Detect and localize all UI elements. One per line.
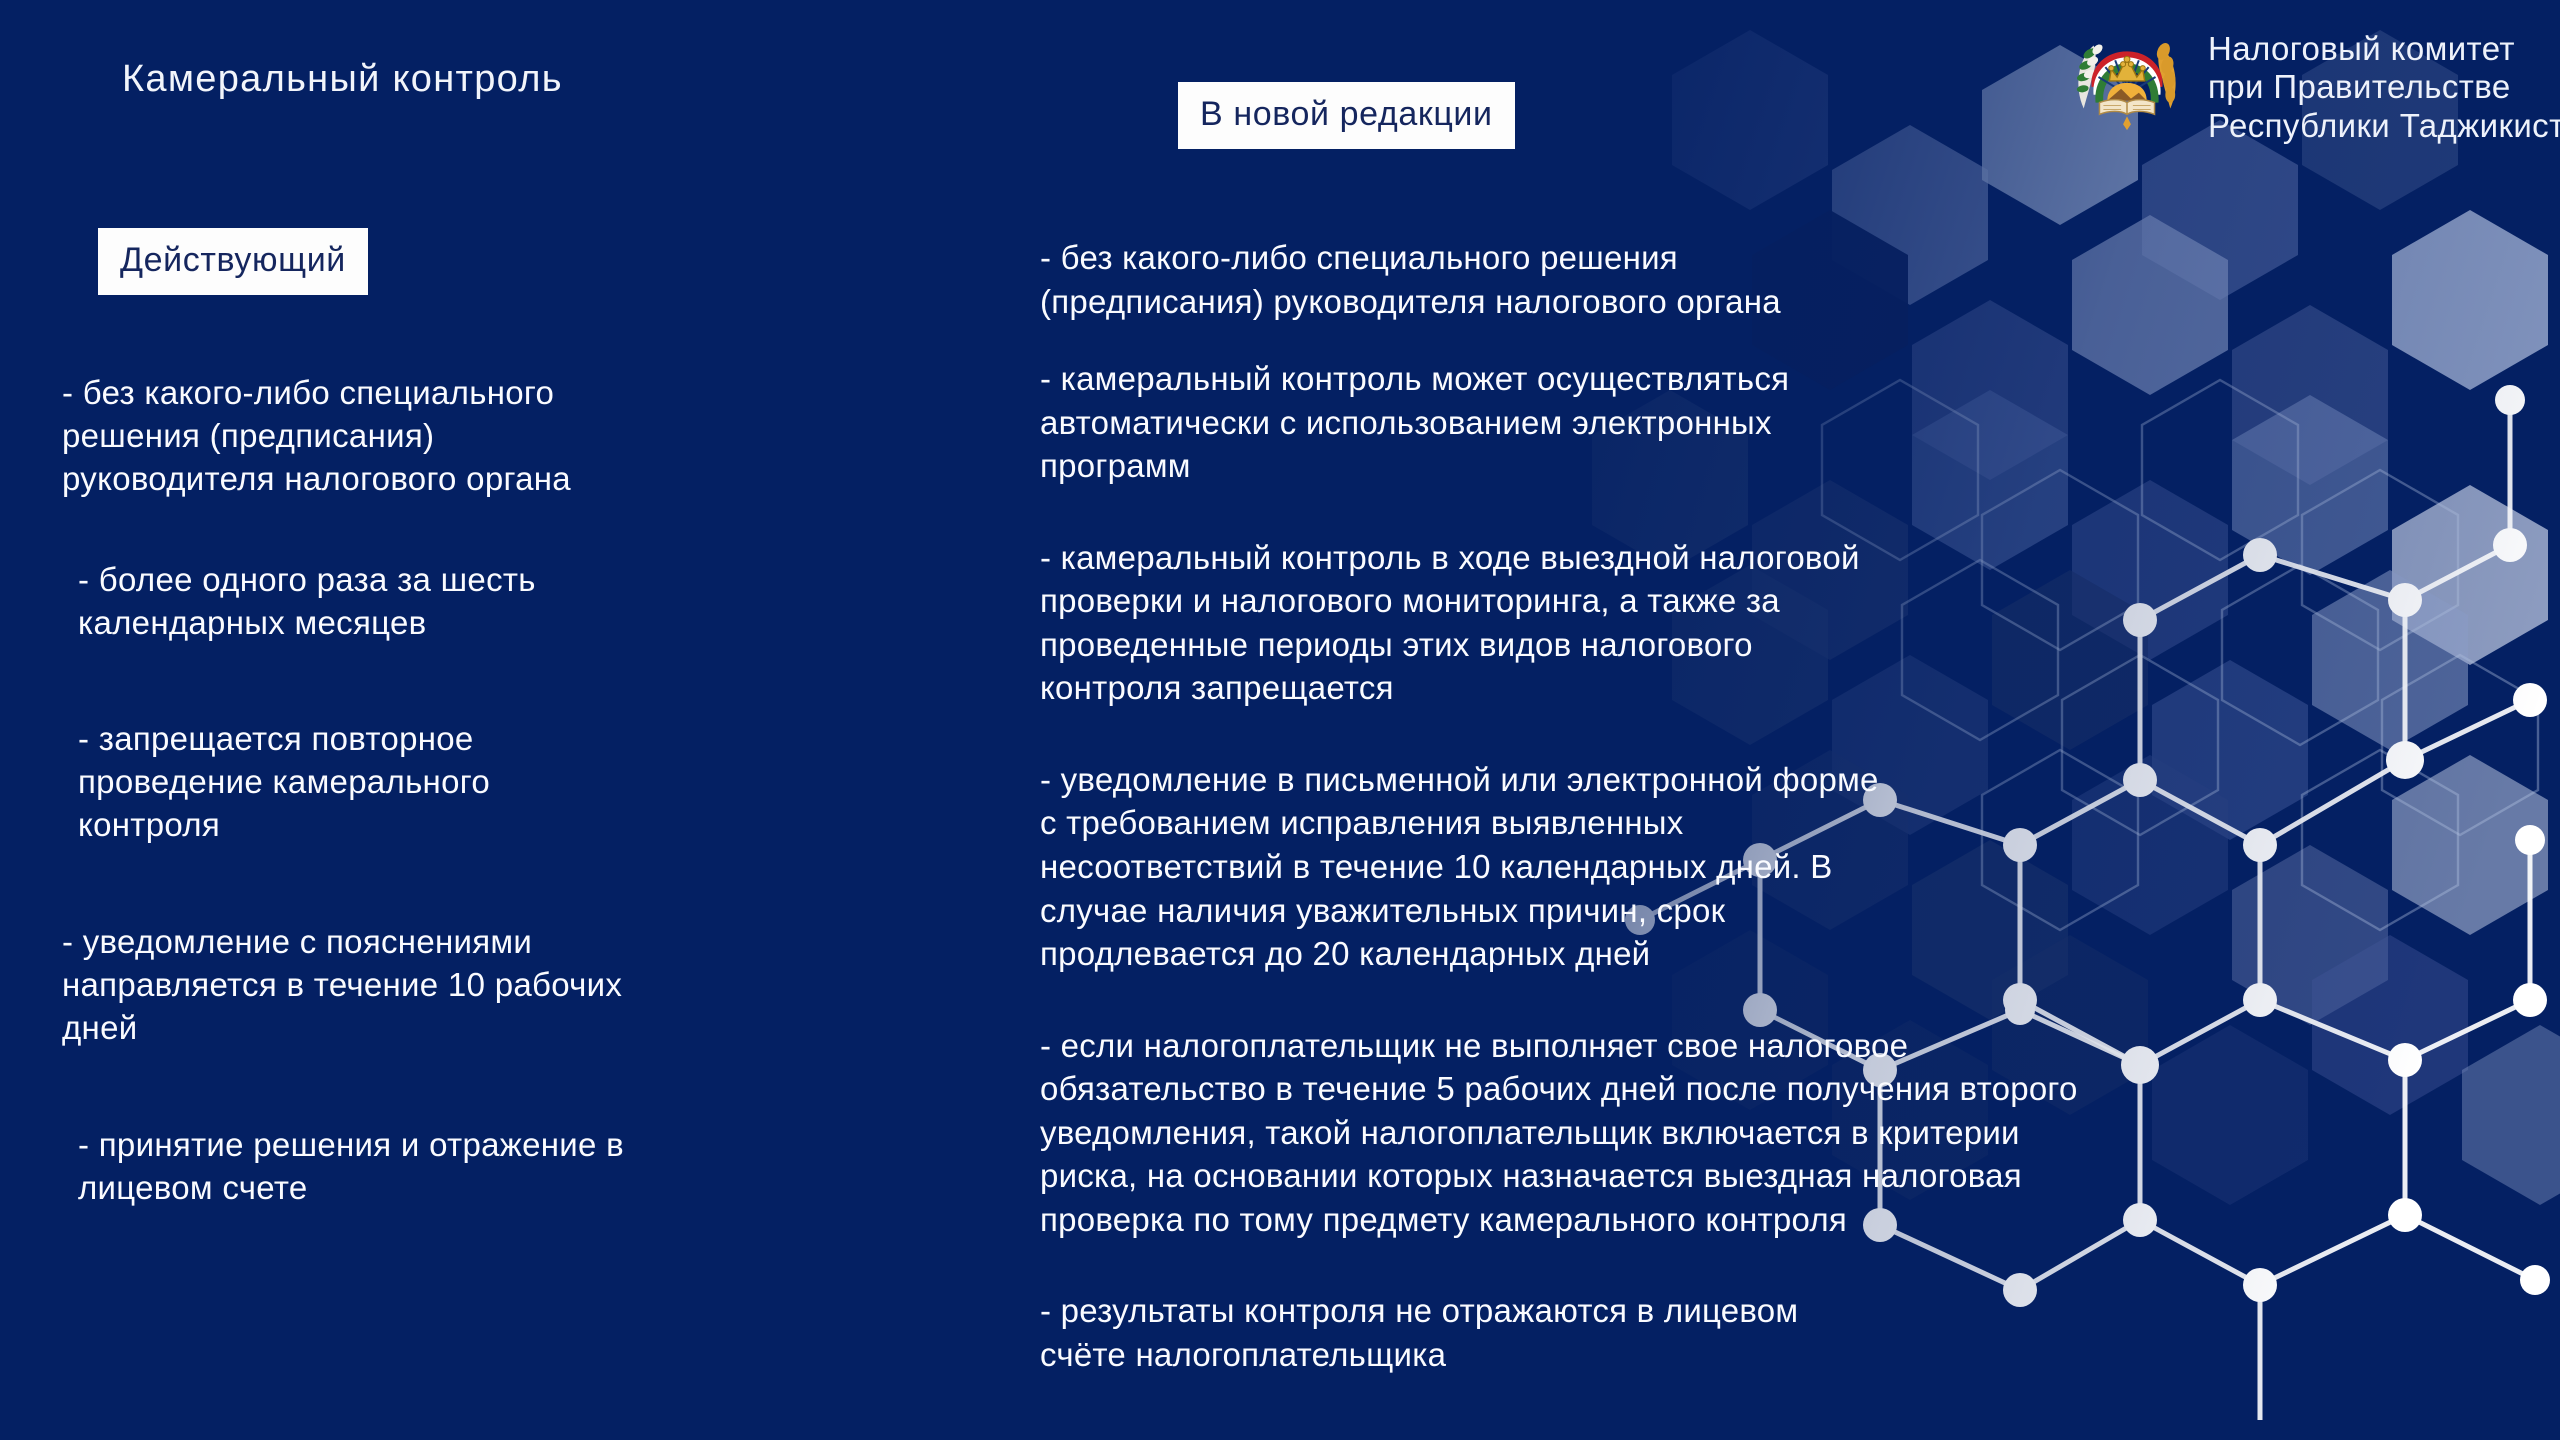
brand-line-2: при Правительстве <box>2208 68 2560 106</box>
brand-line-3: Республики Таджикистан <box>2208 107 2560 145</box>
current-version-column: - без какого-либо специального решения (… <box>62 372 862 1210</box>
tajikistan-state-emblem <box>2068 18 2186 136</box>
right-paragraph: - камеральный контроль может осуществлят… <box>1040 357 2200 488</box>
slide-root: Налоговый комитет при Правительстве Респ… <box>0 0 2560 1440</box>
left-paragraph: - принятие решения и отражение в лицевом… <box>62 1124 862 1210</box>
badge-new-version: В новой редакции <box>1178 82 1515 149</box>
left-paragraph: - без какого-либо специального решения (… <box>62 372 862 501</box>
page-title: Камеральный контроль <box>122 58 563 101</box>
brand-title: Налоговый комитет при Правительстве Респ… <box>2208 18 2560 145</box>
right-paragraph: - результаты контроля не отражаются в ли… <box>1040 1289 2200 1376</box>
right-paragraph: - если налогоплательщик не выполняет сво… <box>1040 1024 2200 1242</box>
left-paragraph: - уведомление с пояснениями направляется… <box>62 921 862 1050</box>
left-paragraph: - запрещается повторное проведение камер… <box>62 718 862 847</box>
brand-header: Налоговый комитет при Правительстве Респ… <box>2068 18 2560 145</box>
new-version-column: - без какого-либо специального решения (… <box>1040 236 2200 1376</box>
right-paragraph: - камеральный контроль в ходе выездной н… <box>1040 536 2200 710</box>
left-paragraph: - более одного раза за шесть календарных… <box>62 559 862 645</box>
right-paragraph: - уведомление в письменной или электронн… <box>1040 758 2200 976</box>
right-paragraph: - без какого-либо специального решения (… <box>1040 236 2200 323</box>
brand-line-1: Налоговый комитет <box>2208 30 2560 68</box>
badge-current-version: Действующий <box>98 228 368 295</box>
